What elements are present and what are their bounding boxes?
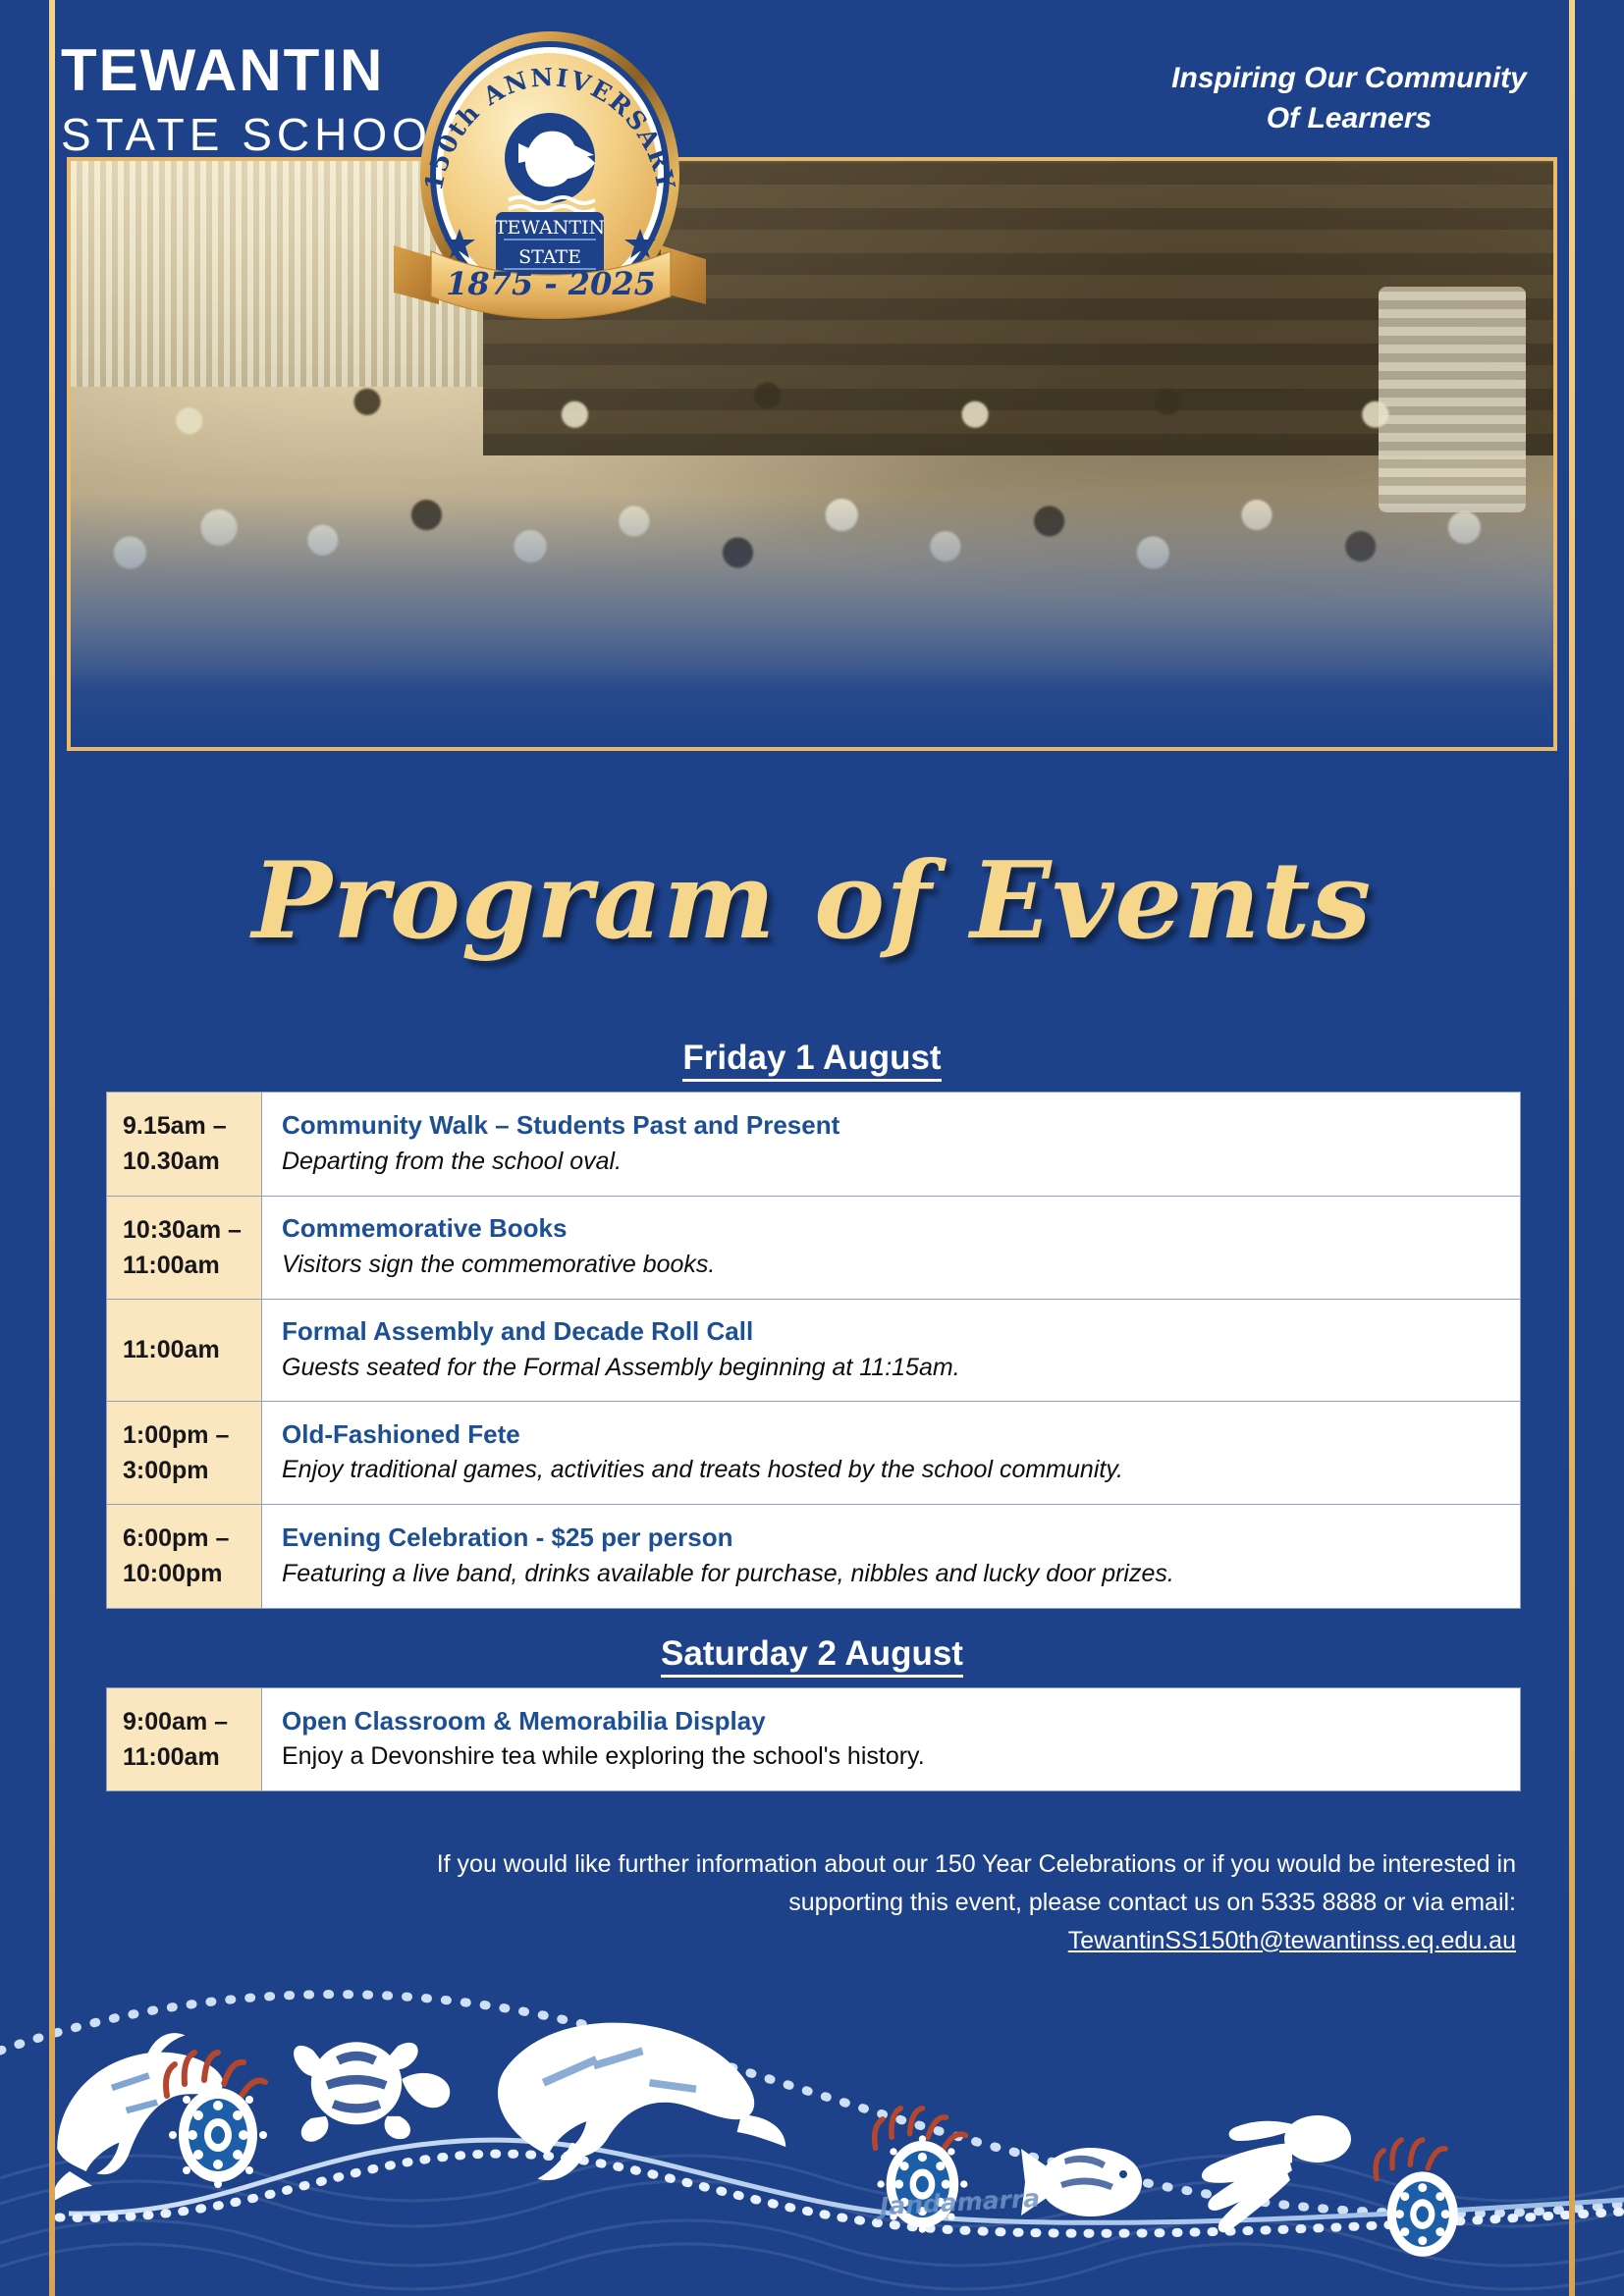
event-title: Commemorative Books [282,1212,1502,1246]
event-time-line2: 3:00pm [123,1453,261,1488]
saturday-event-rows: 9:00am – 11:00am Open Classroom & Memora… [106,1687,1521,1792]
event-body: Evening Celebration - $25 per person Fea… [262,1505,1520,1608]
page-header: TEWANTIN STATE SCHOOL Inspiring Our Comm… [0,0,1624,236]
event-time-line2: 11:00am [123,1248,261,1283]
event-time-line2: 11:00am [123,1739,261,1775]
event-time: 11:00am [107,1300,262,1401]
event-description: Enjoy traditional games, activities and … [282,1454,1502,1487]
historic-school-photo [67,157,1557,751]
school-tagline: Inspiring Our Community Of Learners [1143,59,1555,138]
event-description: Featuring a live band, drinks available … [282,1558,1502,1591]
day-heading-saturday-label: Saturday 2 August [661,1634,963,1678]
event-title: Community Walk – Students Past and Prese… [282,1109,1502,1143]
photo-bottom-fade [71,492,1553,747]
day-heading-friday: Friday 1 August [0,1031,1624,1092]
event-title: Formal Assembly and Decade Roll Call [282,1315,1502,1349]
event-description: Guests seated for the Formal Assembly be… [282,1352,1502,1385]
event-description: Enjoy a Devonshire tea while exploring t… [282,1740,1502,1774]
friday-event-rows: 9.15am – 10.30am Community Walk – Studen… [106,1092,1521,1609]
event-body: Community Walk – Students Past and Prese… [262,1093,1520,1196]
event-time-line2: 10:00pm [123,1556,261,1591]
event-time-line2: 10.30am [123,1144,261,1179]
event-title: Old-Fashioned Fete [282,1418,1502,1452]
table-row: 10:30am – 11:00am Commemorative Books Vi… [107,1197,1520,1301]
event-body: Formal Assembly and Decade Roll Call Gue… [262,1300,1520,1401]
event-body: Old-Fashioned Fete Enjoy traditional gam… [262,1402,1520,1505]
day-heading-friday-label: Friday 1 August [682,1039,941,1082]
event-title: Evening Celebration - $25 per person [282,1522,1502,1555]
event-time-line1: 10:30am – [123,1212,261,1248]
table-row: 1:00pm – 3:00pm Old-Fashioned Fete Enjoy… [107,1402,1520,1506]
event-description: Departing from the school oval. [282,1146,1502,1179]
event-body: Open Classroom & Memorabilia Display Enj… [262,1688,1520,1791]
tagline-line1: Inspiring Our Community [1143,59,1555,99]
program-schedule: Friday 1 August 9.15am – 10.30am Communi… [0,1031,1624,1791]
contact-line-2: supporting this event, please contact us… [226,1884,1516,1922]
table-row: 9:00am – 11:00am Open Classroom & Memora… [107,1688,1520,1792]
event-time-line1: 1:00pm – [123,1417,261,1453]
event-time: 9:00am – 11:00am [107,1688,262,1791]
table-row: 6:00pm – 10:00pm Evening Celebration - $… [107,1505,1520,1609]
contact-block: If you would like further information ab… [0,1845,1624,1959]
event-time-line1: 11:00am [123,1332,261,1367]
event-time-line1: 9:00am – [123,1704,261,1739]
contact-email[interactable]: TewantinSS150th@tewantinss.eq.edu.au [226,1922,1516,1960]
event-description: Visitors sign the commemorative books. [282,1249,1502,1282]
table-row: 11:00am Formal Assembly and Decade Roll … [107,1300,1520,1402]
event-time: 10:30am – 11:00am [107,1197,262,1300]
ribbon-years-text: 1875 - 2025 [446,265,656,302]
anniversary-ribbon: 1875 - 2025 [388,224,712,332]
event-time-line1: 9.15am – [123,1108,261,1144]
program-of-events-title: Program of Events [0,839,1624,963]
event-time-line1: 6:00pm – [123,1521,261,1556]
table-row: 9.15am – 10.30am Community Walk – Studen… [107,1093,1520,1197]
contact-line-1: If you would like further information ab… [226,1845,1516,1884]
event-title: Open Classroom & Memorabilia Display [282,1705,1502,1738]
event-time: 6:00pm – 10:00pm [107,1505,262,1608]
tagline-line2: Of Learners [1143,99,1555,139]
day-heading-saturday: Saturday 2 August [0,1609,1624,1687]
event-body: Commemorative Books Visitors sign the co… [262,1197,1520,1300]
event-time: 9.15am – 10.30am [107,1093,262,1196]
indigenous-artwork-footer: Jandamarra [0,1972,1624,2296]
event-time: 1:00pm – 3:00pm [107,1402,262,1505]
